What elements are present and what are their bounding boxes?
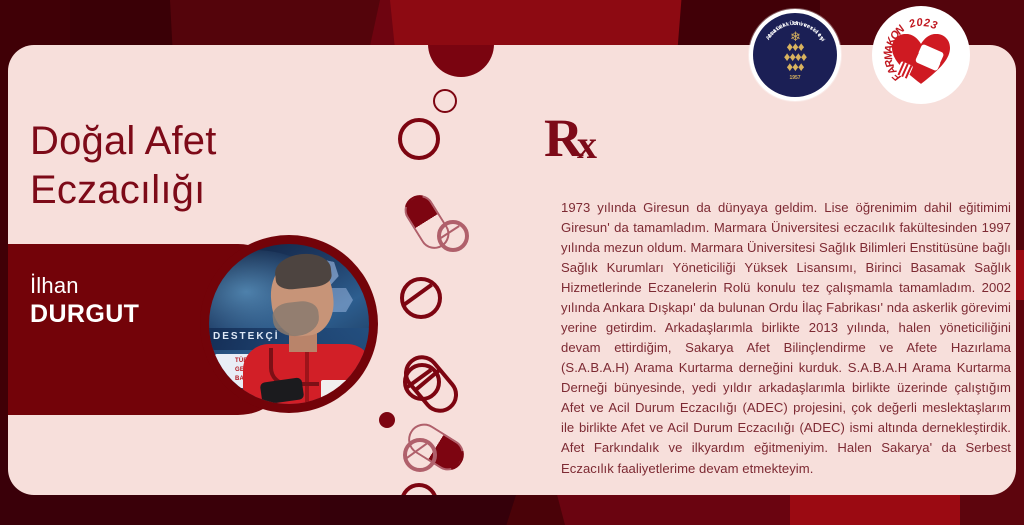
tablet-scored-icon (403, 363, 441, 401)
tablet-score-line (406, 443, 427, 459)
atatuk-university-logo: Atatürk Üniversitesi Atatürk University … (749, 9, 841, 101)
tablet-scored-icon (437, 220, 469, 252)
tablet-scored-light-icon (403, 438, 437, 472)
arc-char: 0 (916, 17, 924, 30)
poster-canvas: Doğal Afet Eczacılığı İlhan DURGUT DESTE… (0, 0, 1024, 525)
pill-ring-small-icon (433, 89, 457, 113)
content-card: Doğal Afet Eczacılığı İlhan DURGUT DESTE… (8, 45, 1016, 495)
photo-name-badge (321, 380, 357, 400)
photo-backdrop-text: DESTEKÇİ (213, 331, 280, 342)
farmakon-2023-logo: FARMAKON 2023 (872, 6, 970, 104)
capsule-outline-icon (397, 348, 466, 420)
biography-text: 1973 yılında Giresun da dünyaya geldim. … (561, 198, 1011, 478)
tablet-score-line (405, 368, 432, 389)
card-top-notch-decoration (428, 45, 494, 77)
tablet-score-line (440, 225, 460, 239)
avatar: DESTEKÇİ TÜRKİYE C. GENÇLİK V. BAKANLIĞ. (209, 244, 369, 404)
title-line-1: Doğal Afet (30, 119, 217, 163)
speaker-first-name: İlhan (30, 273, 79, 299)
speaker-last-name: DURGUT (30, 300, 139, 329)
rx-prescription-icon: Rx (544, 111, 597, 165)
crest-year: 1957 (773, 75, 817, 81)
handshake-heart-icon (892, 32, 950, 86)
arc-char: 3 (929, 19, 939, 32)
tablet-score-line (402, 283, 433, 307)
arc-char: k (785, 22, 790, 29)
pill-ring-bottom-icon (400, 483, 438, 495)
crest-row: ♦♦♦ (773, 60, 817, 73)
tablet-scored-large-icon (400, 277, 442, 319)
page-title: Doğal Afet Eczacılığı (30, 117, 510, 215)
university-seal-inner: Atatürk Üniversitesi Atatürk University … (753, 13, 837, 97)
pill-dot-filled-icon (379, 412, 395, 428)
arc-char: i (800, 22, 803, 28)
title-line-2: Eczacılığı (30, 166, 510, 215)
capsule-divider-line (415, 369, 440, 391)
university-crest-icon: ❄ ♦♦♦ ♦♦♦♦ ♦♦♦ 1957 (773, 30, 817, 80)
rx-subscript: x (577, 122, 597, 167)
capsule-filled-icon (402, 418, 470, 477)
